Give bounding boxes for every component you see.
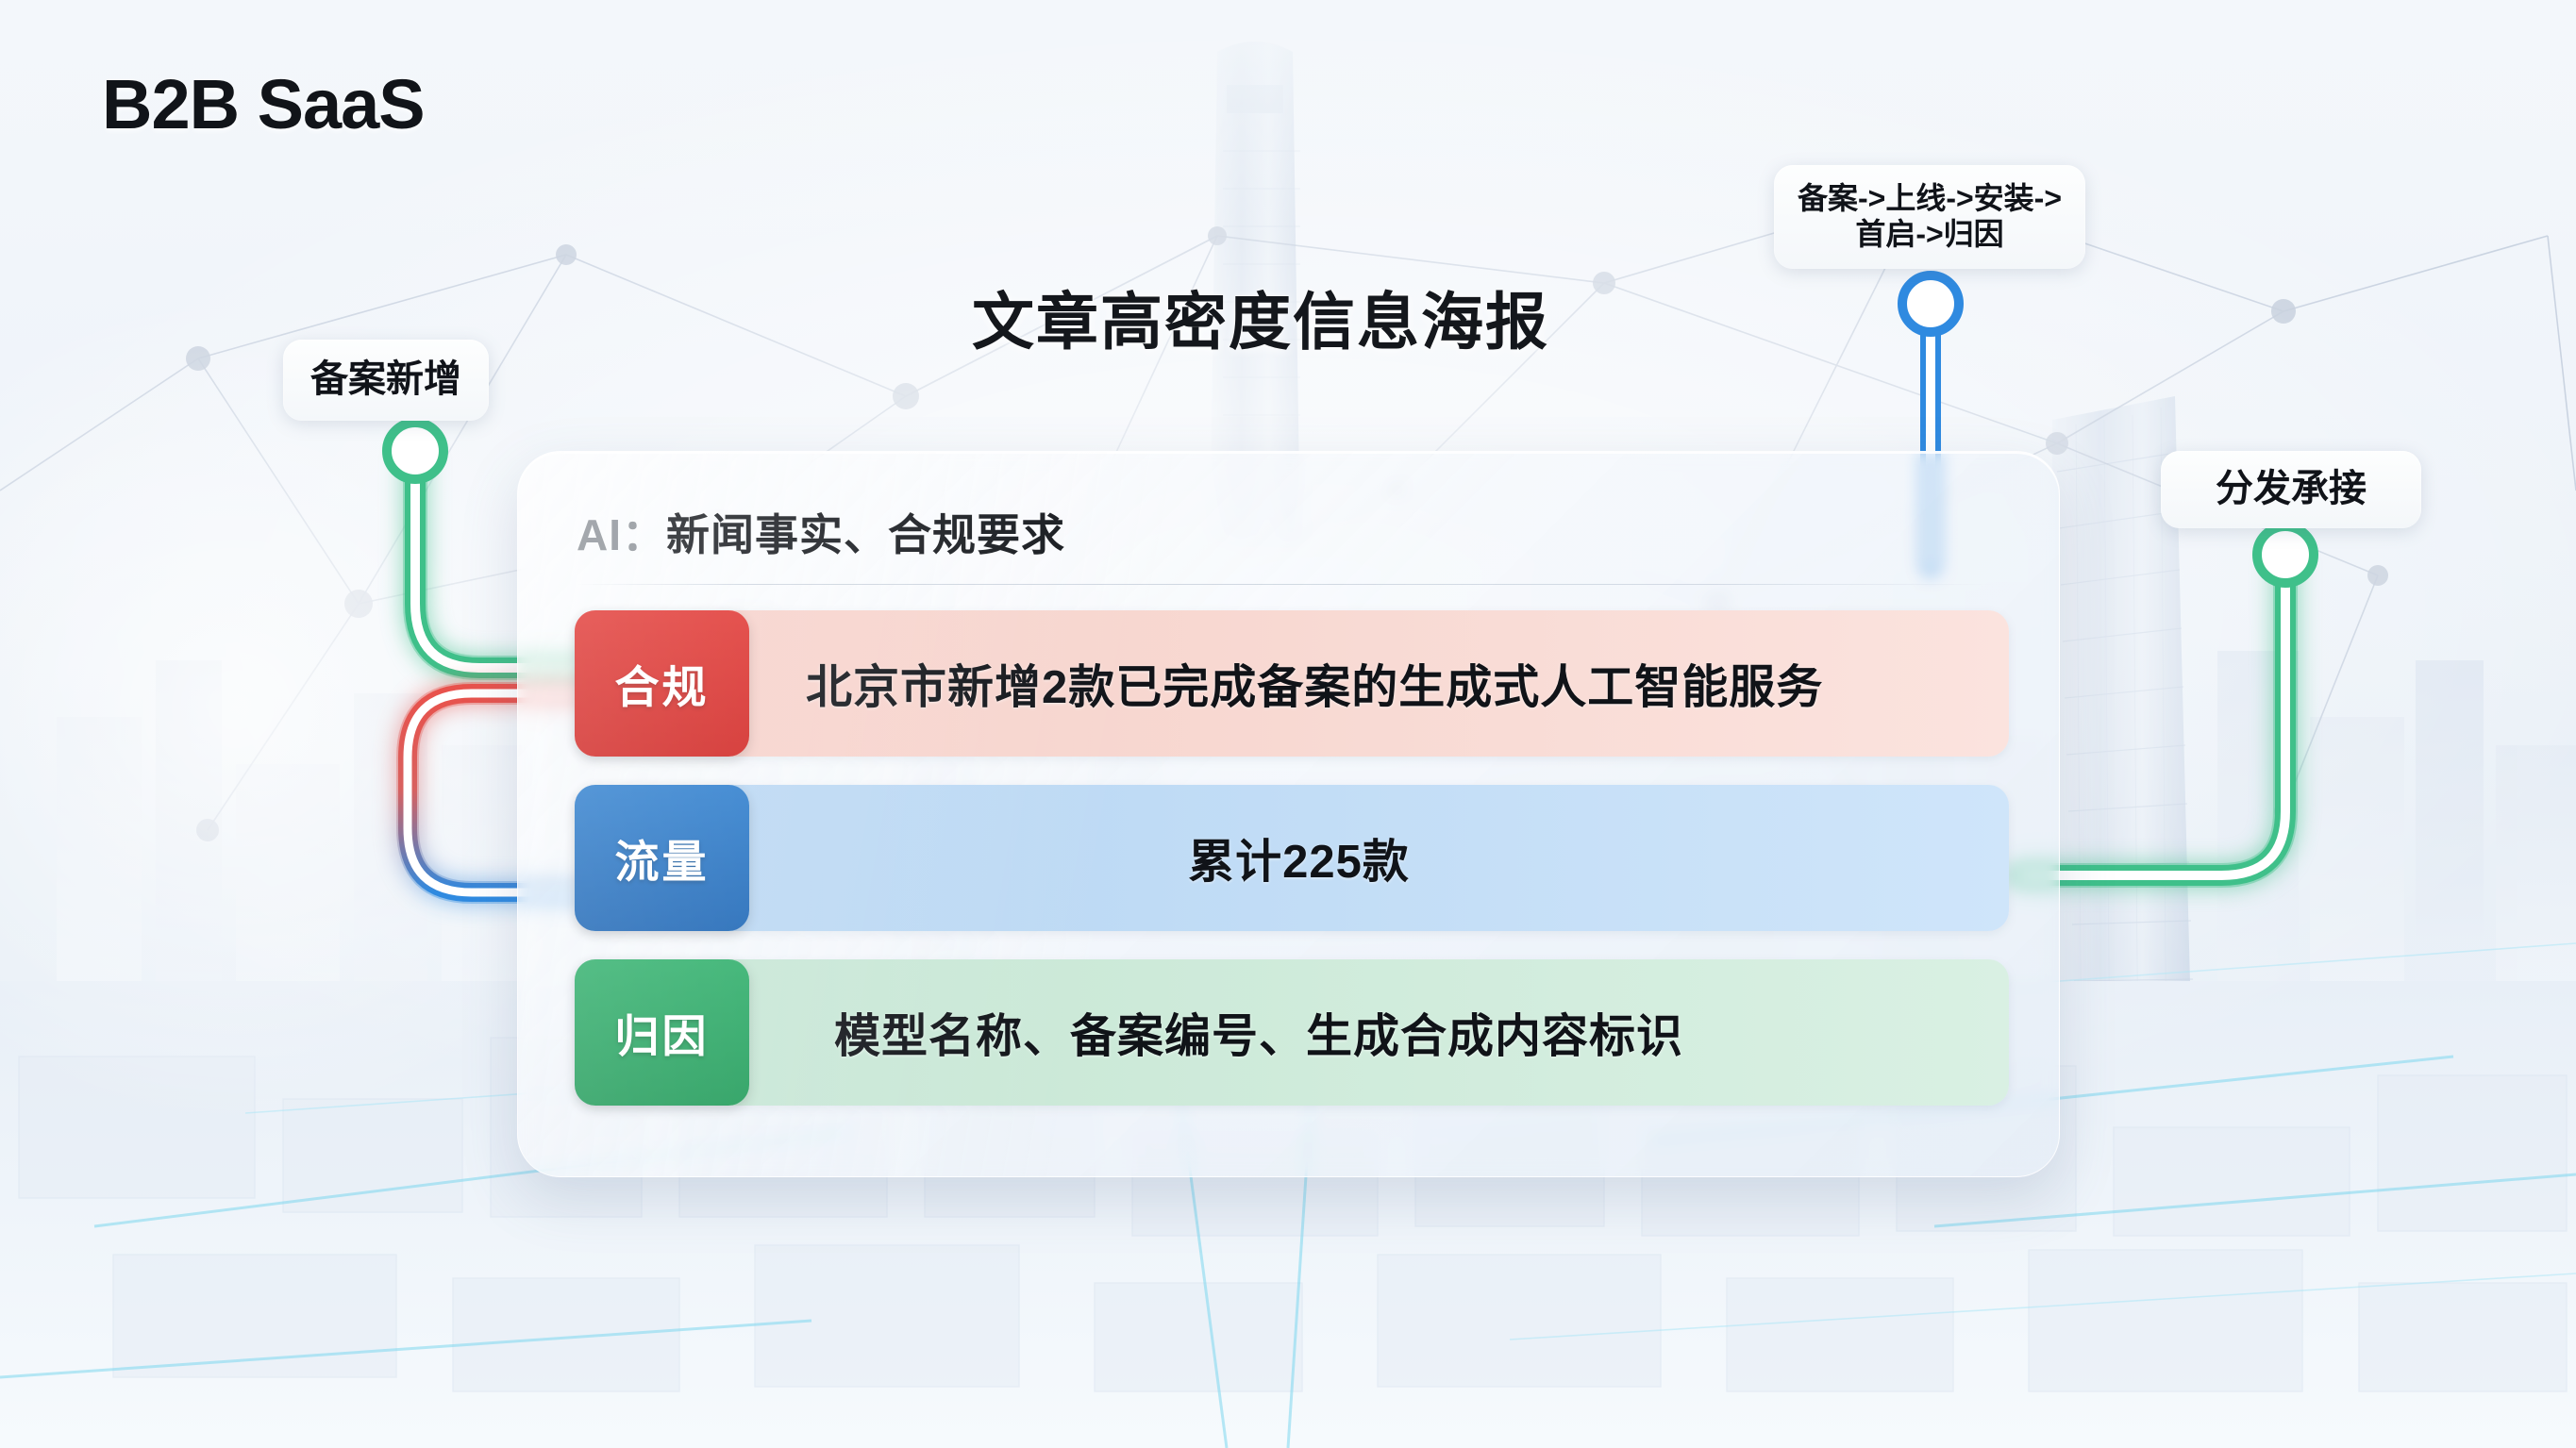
card-header: AI： 新闻事实、合规要求 xyxy=(577,491,1992,573)
label-badge-distribution[interactable]: 分发承接 xyxy=(2161,451,2421,528)
info-row-attribution[interactable]: 归因 模型名称、备案编号、生成合成内容标识 xyxy=(575,959,2009,1106)
info-row-attribution-tag: 归因 xyxy=(575,959,749,1106)
card-header-ai-prefix: AI： xyxy=(577,501,666,563)
label-badge-flow-chain[interactable]: 备案->上线->安装-> 首启->归因 xyxy=(1774,165,2085,269)
info-card: AI： 新闻事实、合规要求 合规 北京市新增2款已完成备案的生成式人工智能服务 … xyxy=(517,451,2060,1177)
label-badge-beian-new-text: 备案新增 xyxy=(310,358,461,402)
label-badge-distribution-text: 分发承接 xyxy=(2216,467,2367,511)
info-row-compliance[interactable]: 合规 北京市新增2款已完成备案的生成式人工智能服务 xyxy=(575,610,2009,757)
info-row-traffic-text: 累计225款 xyxy=(749,785,2009,931)
info-row-traffic[interactable]: 流量 累计225款 xyxy=(575,785,2009,931)
label-badge-beian-new[interactable]: 备案新增 xyxy=(283,340,489,421)
label-badge-flow-chain-line1: 备案->上线->安装-> xyxy=(1798,181,2062,217)
poster-stage: B2B SaaS 文章高密度信息海报 备案新增 备案->上线->安装-> 首启-… xyxy=(0,0,2576,1448)
info-row-compliance-tag: 合规 xyxy=(575,610,749,757)
info-row-attribution-text: 模型名称、备案编号、生成合成内容标识 xyxy=(749,959,2009,1106)
poster-title: 文章高密度信息海报 xyxy=(972,272,1549,362)
info-row-traffic-tag: 流量 xyxy=(575,785,749,931)
card-header-divider xyxy=(577,584,1992,585)
label-badge-flow-chain-line2: 首启->归因 xyxy=(1798,217,2062,253)
info-row-compliance-text: 北京市新增2款已完成备案的生成式人工智能服务 xyxy=(749,610,2009,757)
card-header-text: 新闻事实、合规要求 xyxy=(666,501,1065,563)
page-title: B2B SaaS xyxy=(102,64,425,144)
